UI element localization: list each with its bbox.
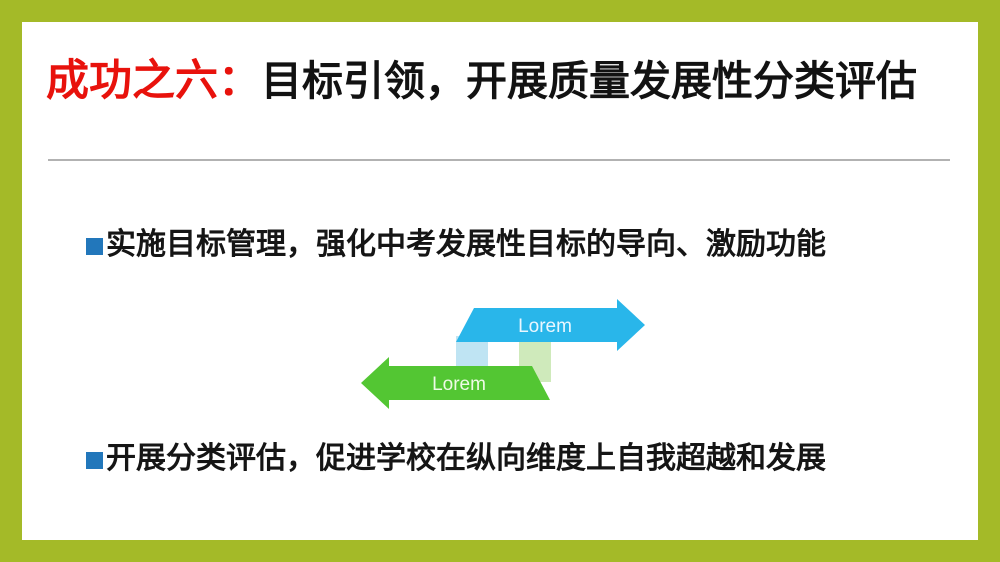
title-prefix: 成功之六： [46,57,261,105]
title-divider [48,159,950,161]
page-title: 成功之六：目标引领，开展质量发展性分类评估 [46,60,956,103]
slide-frame: 成功之六：目标引领，开展质量发展性分类评估 实施目标管理，强化中考发展性目标的导… [0,0,1000,562]
right-arrow-blue-label: Lorem [518,316,572,337]
square-bullet-icon [86,238,103,255]
slide-content-panel: 成功之六：目标引领，开展质量发展性分类评估 实施目标管理，强化中考发展性目标的导… [22,22,978,540]
square-bullet-icon [86,452,103,469]
bullet-item-2-label: 开展分类评估，促进学校在纵向维度上自我超越和发展 [106,442,826,477]
bullet-item-2: 开展分类评估，促进学校在纵向维度上自我超越和发展 [86,442,826,477]
bullet-item-1: 实施目标管理，强化中考发展性目标的导向、激励功能 [86,228,826,263]
left-arrow-green-label: Lorem [432,374,486,395]
title-main: 目标引领，开展质量发展性分类评估 [261,58,917,104]
bullet-item-1-label: 实施目标管理，强化中考发展性目标的导向、激励功能 [106,228,826,263]
two-way-arrow-diagram: Lorem Lorem [342,294,662,414]
